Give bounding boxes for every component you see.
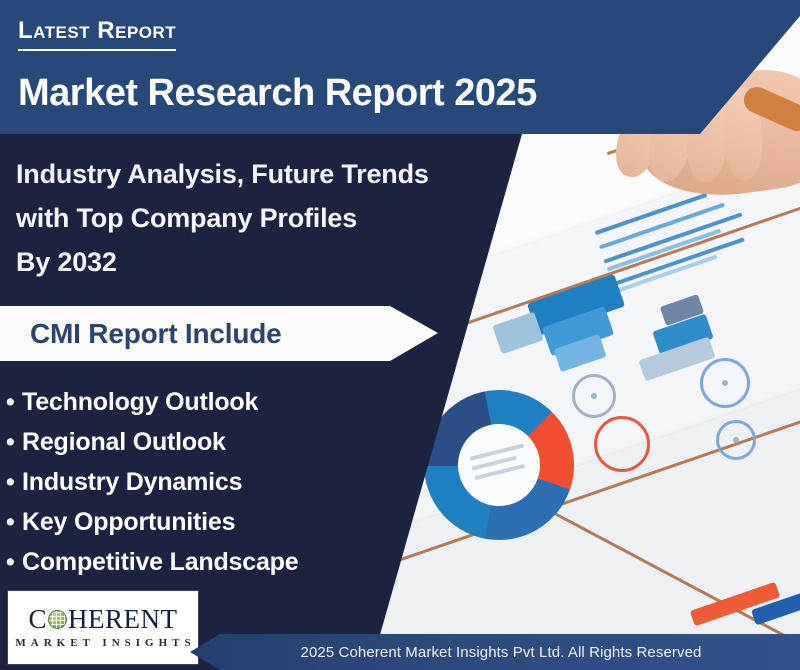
report-poster: Latest Report Market Research Report 202… xyxy=(0,0,800,670)
bullet-dot-icon: • xyxy=(6,462,22,502)
logo-tagline: MARKET INSIGHTS xyxy=(10,637,195,649)
bullet-list: •Technology Outlook •Regional Outlook •I… xyxy=(6,382,298,582)
list-item: •Regional Outlook xyxy=(6,422,298,462)
logo-wordmark: C HERENT xyxy=(29,606,178,633)
report-include-list: •Technology Outlook •Regional Outlook •I… xyxy=(6,382,298,582)
photo-ring-chart xyxy=(700,358,750,408)
photo-ring-chart xyxy=(572,374,616,418)
photo-ring-chart xyxy=(716,420,756,460)
list-item-label: Competitive Landscape xyxy=(22,548,298,576)
list-item-label: Technology Outlook xyxy=(22,388,258,416)
bullet-dot-icon: • xyxy=(6,422,22,462)
bullet-dot-icon: • xyxy=(6,382,22,422)
bullet-dot-icon: • xyxy=(6,542,22,582)
footer-bar: 2025 Coherent Market Insights Pvt Ltd. A… xyxy=(190,634,800,670)
copyright-text: 2025 Coherent Market Insights Pvt Ltd. A… xyxy=(289,644,702,661)
photo-ring-chart xyxy=(594,416,650,472)
subtitle-line-2: with Top Company Profiles xyxy=(16,196,429,240)
logo-brand-suffix: HERENT xyxy=(68,606,177,633)
logo-brand-prefix: C xyxy=(29,606,48,633)
cmi-report-include-banner: CMI Report Include xyxy=(0,306,438,361)
kicker-label: Latest Report xyxy=(18,18,176,51)
list-item: •Technology Outlook xyxy=(6,382,298,422)
list-item-label: Key Opportunities xyxy=(22,508,235,536)
subtitle-block: Industry Analysis, Future Trends with To… xyxy=(16,152,429,284)
cmi-banner-label: CMI Report Include xyxy=(0,318,282,350)
subtitle-line-1: Industry Analysis, Future Trends xyxy=(16,152,429,196)
bullet-dot-icon: • xyxy=(6,502,22,542)
subtitle-line-3: By 2032 xyxy=(16,240,429,284)
globe-icon xyxy=(48,610,67,629)
page-title: Market Research Report 2025 xyxy=(18,72,537,115)
list-item: •Industry Dynamics xyxy=(6,462,298,502)
list-item-label: Regional Outlook xyxy=(22,428,226,456)
list-item: •Key Opportunities xyxy=(6,502,298,542)
company-logo: C HERENT MARKET INSIGHTS xyxy=(8,591,198,664)
list-item-label: Industry Dynamics xyxy=(22,468,242,496)
list-item: •Competitive Landscape xyxy=(6,542,298,582)
